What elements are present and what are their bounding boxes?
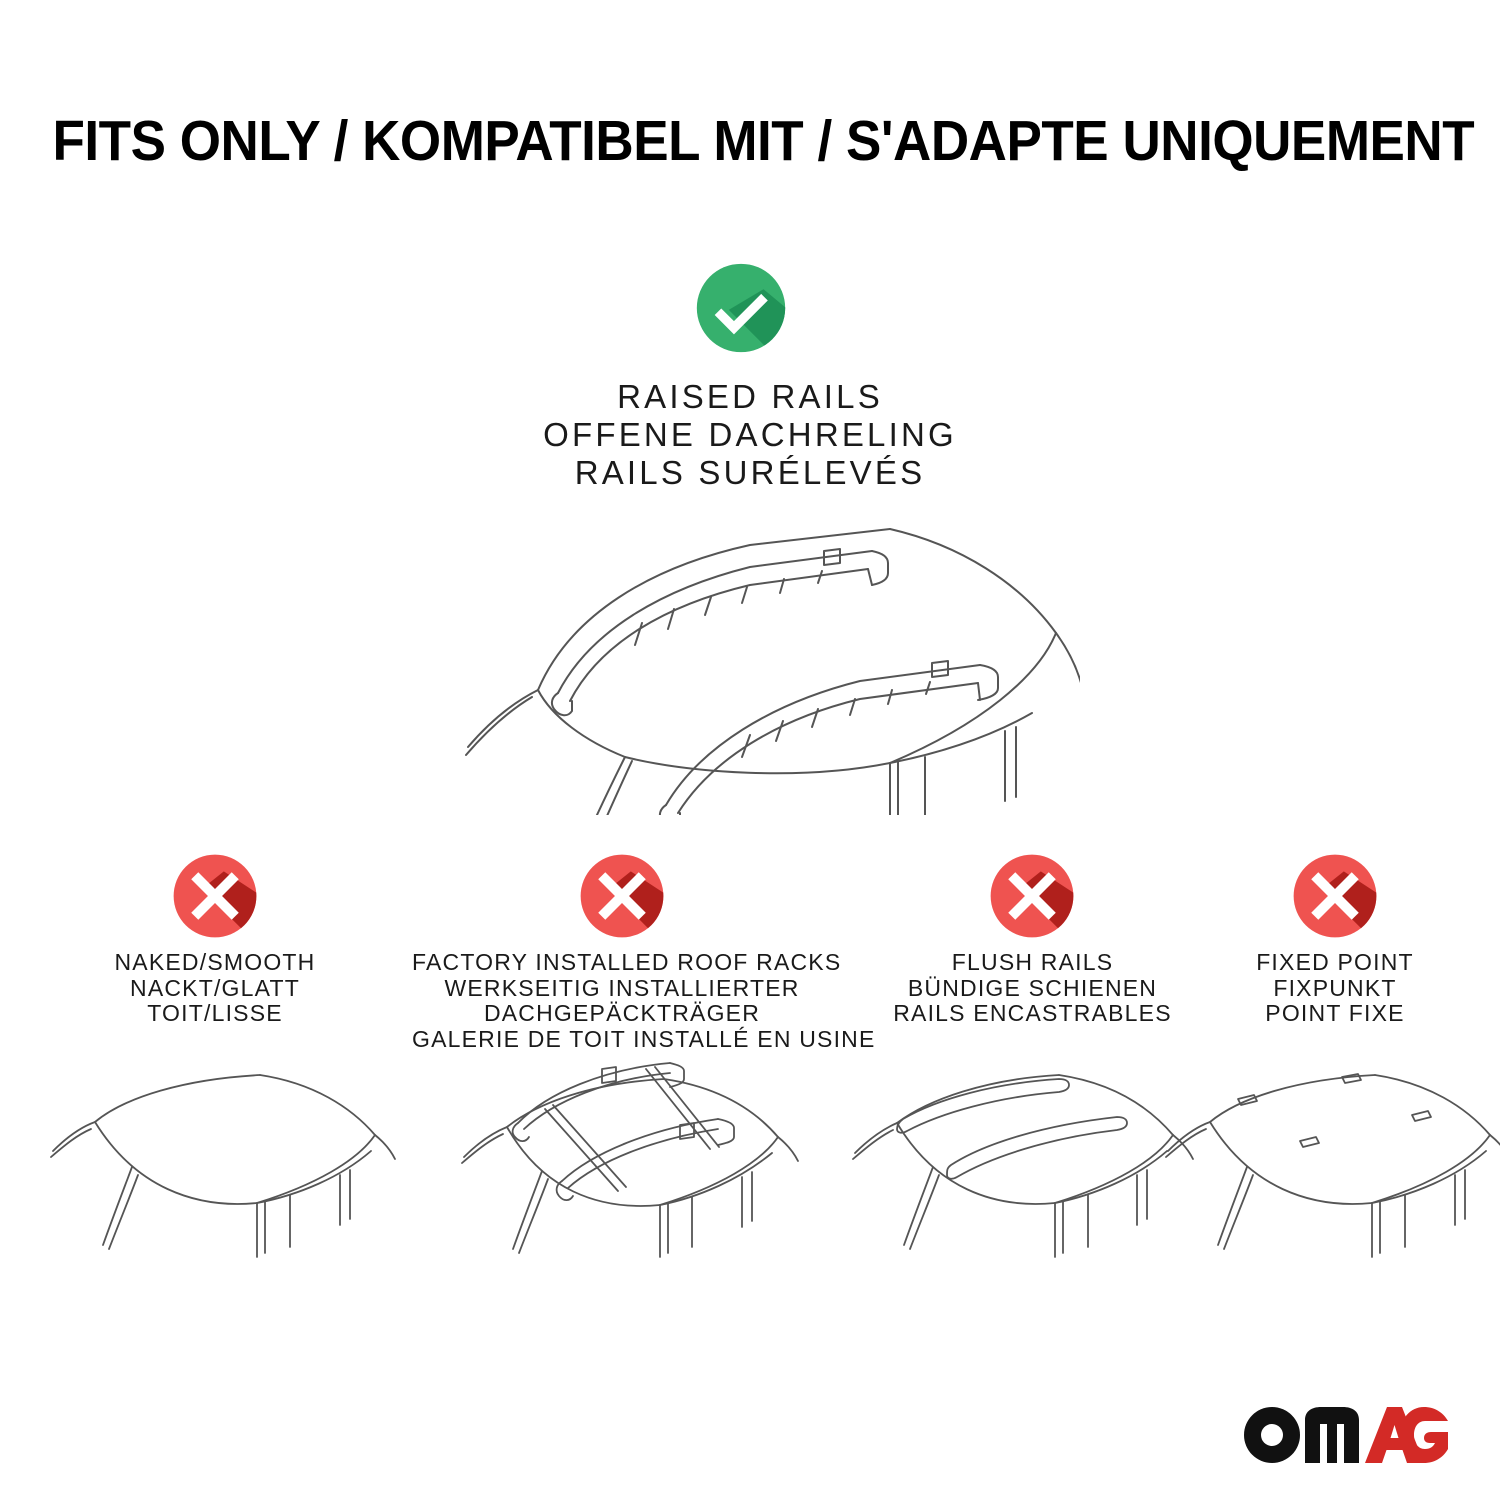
label-line-2: BÜNDIGE SCHIENEN	[845, 976, 1220, 1002]
car-roof-factory-installed-roof-racks-illustration	[432, 1057, 812, 1277]
cross-circle-icon	[1291, 852, 1379, 940]
cross-circle-icon	[988, 852, 1076, 940]
cross-circle-icon	[578, 852, 666, 940]
car-roof-with-raised-rails-illustration	[420, 505, 1080, 815]
incompatible-labels-naked-smooth: NAKED/SMOOTH NACKT/GLATT TOIT/LISSE	[15, 950, 415, 1027]
omac-logo	[1243, 1404, 1448, 1466]
label-line-1: FIXED POINT	[1205, 950, 1465, 976]
label-line-1: NAKED/SMOOTH	[15, 950, 415, 976]
check-circle-icon	[694, 261, 788, 355]
label-line-4: GALERIE DE TOIT INSTALLÉ EN USINE	[412, 1027, 832, 1053]
label-line-2: FIXPUNKT	[1205, 976, 1465, 1002]
label-line-1: FACTORY INSTALLED ROOF RACKS	[412, 950, 832, 976]
incompatible-labels-factory-roof-racks: FACTORY INSTALLED ROOF RACKS WERKSEITIG …	[412, 950, 832, 1052]
label-line-3: RAILS ENCASTRABLES	[845, 1001, 1220, 1027]
label-line-3: POINT FIXE	[1205, 1001, 1465, 1027]
compatible-label-line-3: RAILS SURÉLEVÉS	[250, 454, 1250, 492]
incompatible-labels-fixed-point: FIXED POINT FIXPUNKT POINT FIXE	[1205, 950, 1465, 1027]
car-roof-fixed-point-illustration	[1150, 1057, 1500, 1277]
cross-circle-icon	[171, 852, 259, 940]
label-line-3: DACHGEPÄCKTRÄGER	[412, 1001, 832, 1027]
page-title: FITS ONLY / KOMPATIBEL MIT / S'ADAPTE UN…	[53, 108, 1448, 174]
label-line-2: WERKSEITIG INSTALLIERTER	[412, 976, 832, 1002]
label-line-1: FLUSH RAILS	[845, 950, 1220, 976]
label-line-3: TOIT/LISSE	[15, 1001, 415, 1027]
compatible-labels: RAISED RAILS OFFENE DACHRELING RAILS SUR…	[250, 378, 1250, 492]
car-roof-naked-smooth-illustration	[35, 1057, 405, 1277]
compatible-label-line-1: RAISED RAILS	[250, 378, 1250, 416]
compatible-label-line-2: OFFENE DACHRELING	[250, 416, 1250, 454]
label-line-2: NACKT/GLATT	[15, 976, 415, 1002]
incompatible-labels-flush-rails: FLUSH RAILS BÜNDIGE SCHIENEN RAILS ENCAS…	[845, 950, 1220, 1027]
